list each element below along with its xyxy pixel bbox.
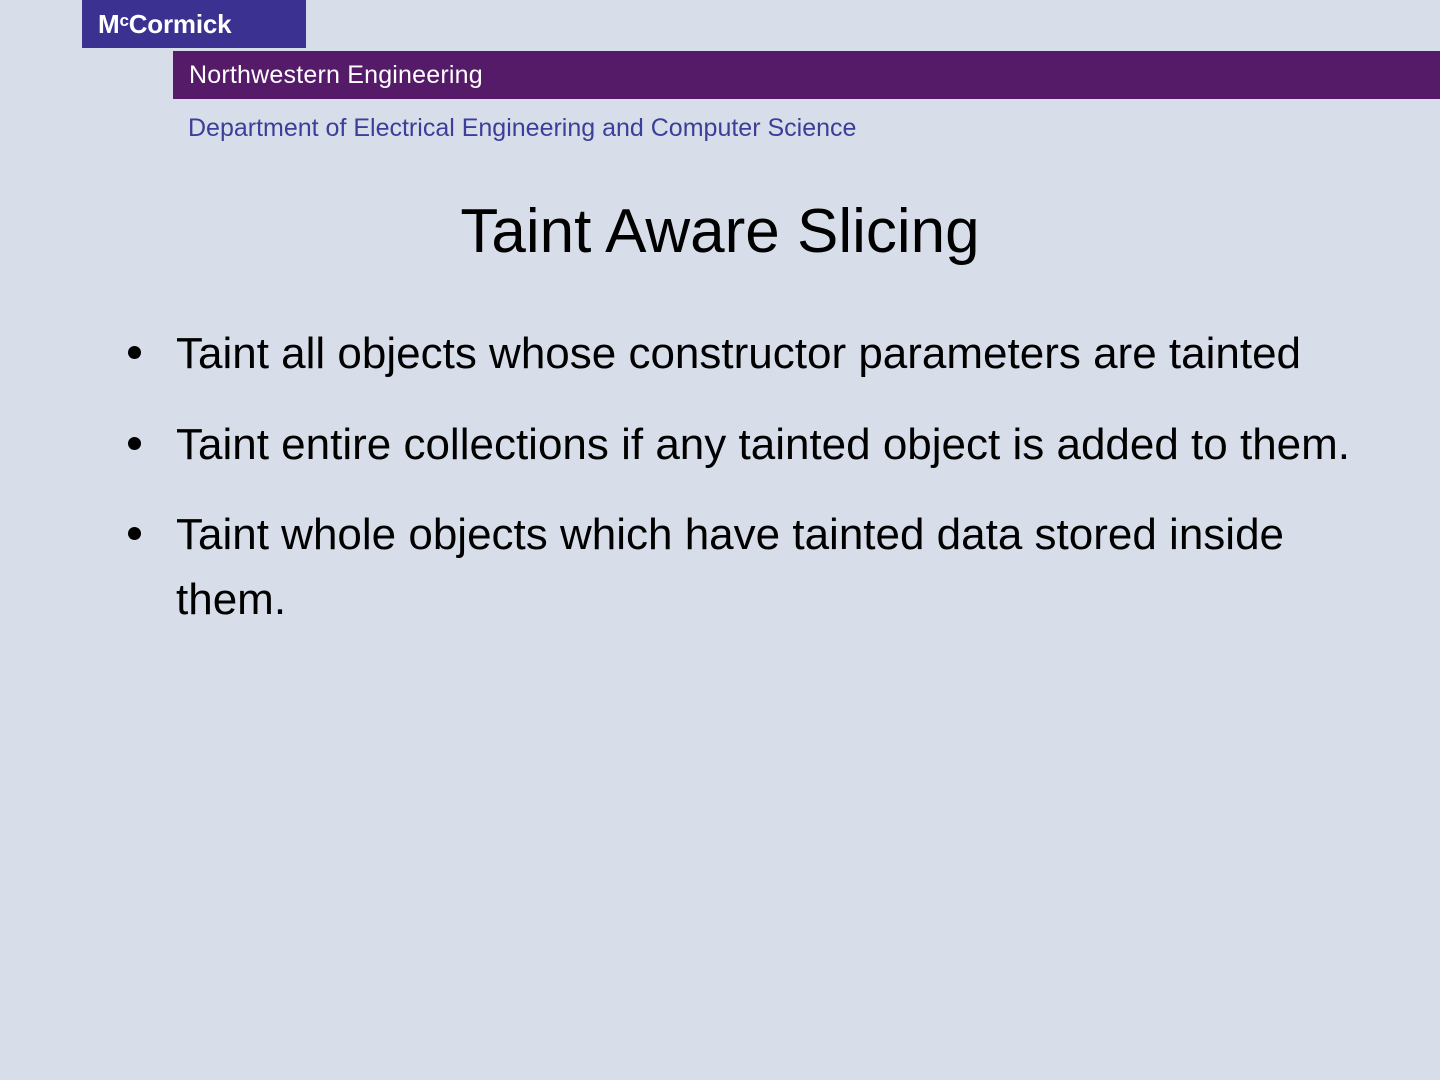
bullet-point-icon (128, 527, 141, 540)
list-item: Taint entire collections if any tainted … (120, 413, 1370, 478)
list-item-text: Taint whole objects which have tainted d… (176, 503, 1370, 632)
list-item-text: Taint entire collections if any tainted … (176, 413, 1370, 478)
mccormick-logo-icon: McCormick (98, 11, 231, 37)
list-item-text: Taint all objects whose constructor para… (176, 322, 1370, 387)
mccormick-logo-tail: Cormick (129, 9, 232, 39)
brand-header: McCormick Northwestern Engineering Depar… (0, 0, 1440, 160)
bullet-list: Taint all objects whose constructor para… (120, 322, 1370, 633)
northwestern-engineering-label: Northwestern Engineering (189, 63, 483, 88)
department-subtitle: Department of Electrical Engineering and… (188, 113, 856, 143)
bullet-point-icon (128, 346, 141, 359)
mccormick-logo-block: McCormick (82, 0, 306, 48)
mccormick-logo-superscript-c: c (119, 11, 128, 30)
list-item: Taint all objects whose constructor para… (120, 322, 1370, 387)
mccormick-logo-m: M (98, 9, 119, 39)
list-item: Taint whole objects which have tainted d… (120, 503, 1370, 632)
presentation-slide: McCormick Northwestern Engineering Depar… (0, 0, 1440, 1080)
bullet-point-icon (128, 437, 141, 450)
northwestern-engineering-bar: Northwestern Engineering (173, 51, 1440, 99)
page-title: Taint Aware Slicing (0, 198, 1440, 266)
